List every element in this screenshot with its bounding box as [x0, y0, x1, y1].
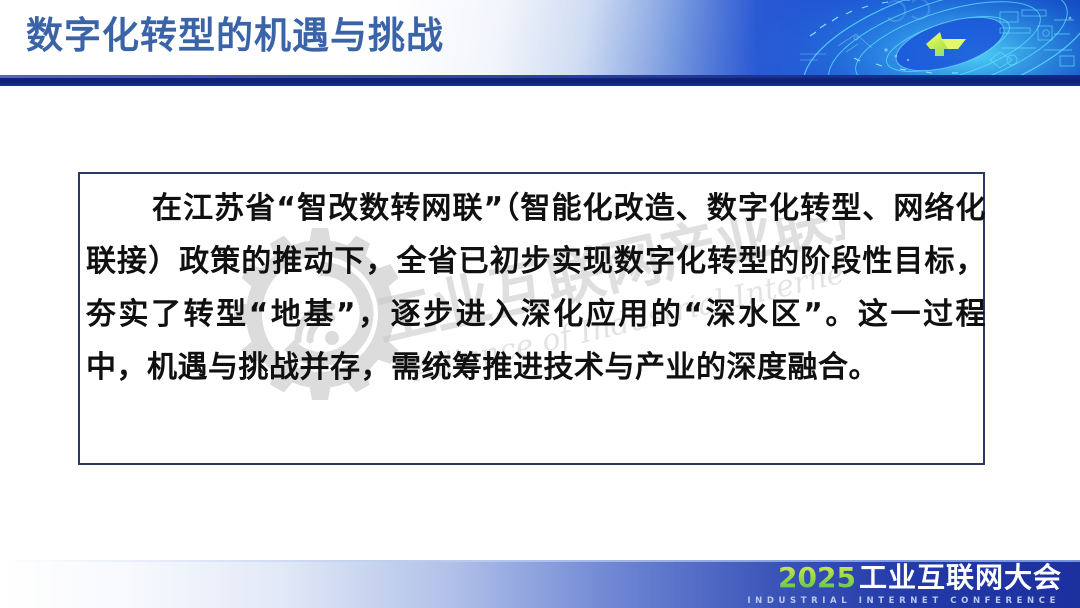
content-text-box [78, 172, 985, 465]
page-title: 数字化转型的机遇与挑战 [26, 11, 444, 61]
conference-logo-main: 2025 工业互联网大会 [747, 564, 1062, 592]
header-accent-bar [0, 75, 1080, 86]
presentation-slide: 数字化转型的机遇与挑战 [0, 0, 1080, 608]
conference-name-cn: 工业互联网大会 [859, 564, 1062, 592]
conference-name-en: INDUSTRIAL INTERNET CONFERENCE [747, 597, 1062, 606]
slide-footer: 2025 工业互联网大会 INDUSTRIAL INTERNET CONFERE… [0, 560, 1080, 608]
conference-year: 2025 [778, 564, 856, 592]
conference-logo: 2025 工业互联网大会 INDUSTRIAL INTERNET CONFERE… [747, 564, 1062, 606]
header-tech-graphic [650, 0, 1080, 78]
header-accent-sheen [0, 75, 1080, 78]
slide-header: 数字化转型的机遇与挑战 [0, 0, 1080, 78]
